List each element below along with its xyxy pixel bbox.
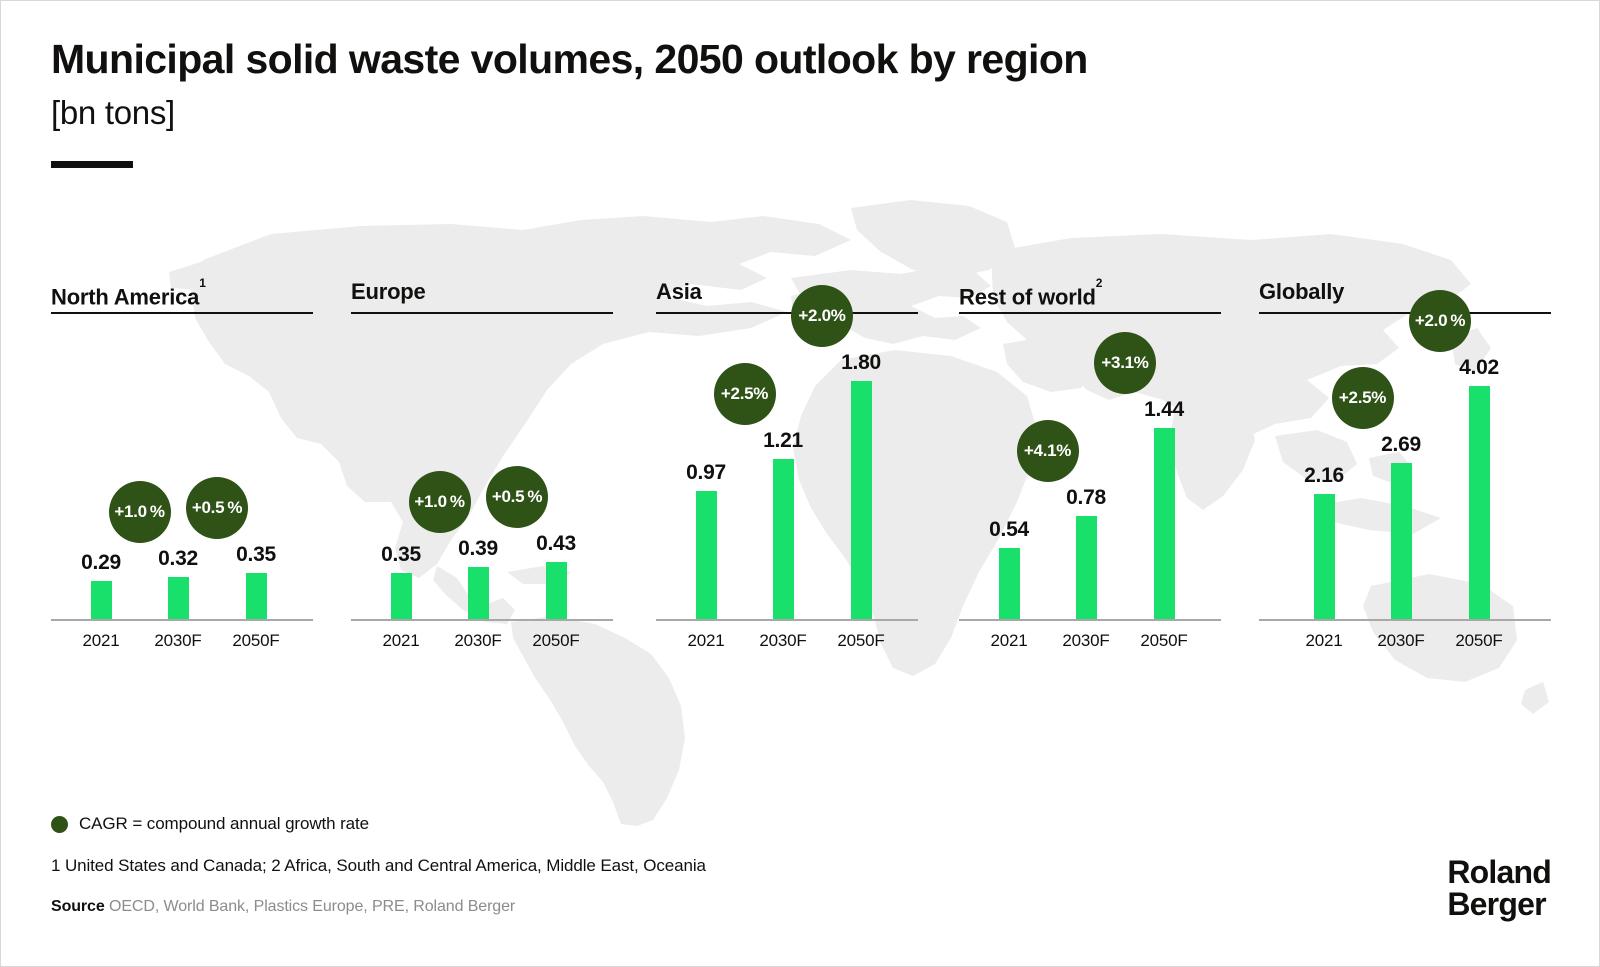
logo-line-2: Berger (1447, 889, 1551, 920)
panel-underline (51, 312, 313, 314)
bar-value-label: 0.29 (81, 551, 121, 575)
cagr-bubble: +2.0 % (1409, 290, 1471, 352)
bar[interactable] (696, 491, 717, 619)
footnotes: 1 United States and Canada; 2 Africa, So… (51, 856, 1151, 876)
bar[interactable] (1076, 516, 1097, 619)
x-axis-tick-label: 2030F (1377, 631, 1424, 651)
bar[interactable] (999, 548, 1020, 619)
bar-value-label: 0.39 (458, 537, 498, 561)
source-text: OECD, World Bank, Plastics Europe, PRE, … (105, 898, 515, 915)
panel-plot: 0.9720211.212030F1.802050F+2.5%+2.0% (656, 363, 918, 659)
bar-value-label: 2.16 (1304, 464, 1344, 488)
bar[interactable] (851, 381, 872, 619)
bar[interactable] (391, 573, 412, 619)
cagr-bubble: +1.0 % (409, 471, 471, 533)
legend-cagr: CAGR = compound annual growth rate (51, 814, 1151, 834)
cagr-bubble: +2.5% (1332, 367, 1394, 429)
panel-rest-of-world: Rest of world20.5420210.782030F1.442050F… (959, 279, 1221, 659)
x-axis-tick-label: 2021 (990, 631, 1027, 651)
bar-value-label: 0.78 (1066, 486, 1106, 510)
x-axis-baseline (51, 619, 313, 621)
panel-title-footnote-marker: 1 (199, 276, 205, 290)
bar-value-label: 0.43 (536, 532, 576, 556)
panel-underline (656, 312, 918, 314)
x-axis-baseline (351, 619, 613, 621)
bar-group: 0.432050F (546, 562, 567, 619)
bar-group: 2.162021 (1314, 494, 1335, 619)
panel-title: Asia (656, 279, 918, 305)
bar-value-label: 0.54 (989, 518, 1029, 542)
panel-plot: 0.5420210.782030F1.442050F+4.1%+3.1% (959, 363, 1221, 659)
panel-plot: 0.2920210.322030F0.352050F+1.0 %+0.5 % (51, 363, 313, 659)
panel-underline (1259, 312, 1551, 314)
footer: CAGR = compound annual growth rate 1 Uni… (51, 814, 1151, 916)
header: Municipal solid waste volumes, 2050 outl… (51, 39, 1088, 168)
bar[interactable] (468, 567, 489, 619)
x-axis-tick-label: 2021 (687, 631, 724, 651)
bar[interactable] (91, 581, 112, 619)
cagr-bubble: +1.0 % (109, 481, 171, 543)
bar-group: 0.542021 (999, 548, 1020, 619)
cagr-bubble: +2.5% (714, 363, 776, 425)
bar-value-label: 2.69 (1381, 433, 1421, 457)
bar-value-label: 4.02 (1459, 356, 1499, 380)
bar-group: 1.212030F (773, 459, 794, 619)
bar-value-label: 0.97 (686, 461, 726, 485)
logo-line-1: Roland (1447, 857, 1551, 888)
chart-panels: North America10.2920210.322030F0.352050F… (51, 279, 1551, 659)
bar-value-label: 1.80 (841, 351, 881, 375)
bar-group: 0.392030F (468, 567, 489, 619)
panel-title: North America1 (51, 279, 313, 305)
panel-title: Rest of world2 (959, 279, 1221, 305)
x-axis-tick-label: 2021 (1305, 631, 1342, 651)
x-axis-tick-label: 2050F (1140, 631, 1187, 651)
bar-value-label: 1.21 (763, 429, 803, 453)
source-line: Source OECD, World Bank, Plastics Europe… (51, 898, 1151, 916)
bar-value-label: 0.32 (158, 547, 198, 571)
panel-underline (959, 312, 1221, 314)
bar[interactable] (1469, 386, 1490, 619)
bar-group: 0.352021 (391, 573, 412, 619)
panel-title: Globally (1259, 279, 1551, 305)
x-axis-tick-label: 2030F (154, 631, 201, 651)
bar[interactable] (168, 577, 189, 619)
x-axis-tick-label: 2030F (454, 631, 501, 651)
panel-europe: Europe0.3520210.392030F0.432050F+1.0 %+0… (351, 279, 613, 659)
x-axis-tick-label: 2030F (1062, 631, 1109, 651)
page-title: Municipal solid waste volumes, 2050 outl… (51, 39, 1088, 80)
x-axis-baseline (656, 619, 918, 621)
bar-value-label: 1.44 (1144, 398, 1184, 422)
x-axis-tick-label: 2021 (82, 631, 119, 651)
bar-group: 2.692030F (1391, 463, 1412, 619)
panel-title-footnote-marker: 2 (1096, 276, 1102, 290)
legend-cagr-label: CAGR = compound annual growth rate (79, 814, 369, 834)
panel-north-america: North America10.2920210.322030F0.352050F… (51, 279, 313, 659)
bar-group: 0.972021 (696, 491, 717, 619)
title-accent-rule (51, 161, 133, 168)
x-axis-baseline (959, 619, 1221, 621)
bar-group: 1.442050F (1154, 428, 1175, 619)
bar[interactable] (1391, 463, 1412, 619)
bar-group: 0.782030F (1076, 516, 1097, 619)
panel-title: Europe (351, 279, 613, 305)
page-subtitle: [bn tons] (51, 92, 1088, 133)
panel-plot: 0.3520210.392030F0.432050F+1.0 %+0.5 % (351, 363, 613, 659)
x-axis-tick-label: 2050F (1455, 631, 1502, 651)
bar-value-label: 0.35 (236, 543, 276, 567)
panel-underline (351, 312, 613, 314)
circle-dot-icon (51, 816, 68, 833)
source-label: Source (51, 898, 105, 915)
x-axis-tick-label: 2030F (759, 631, 806, 651)
cagr-bubble: +2.0% (791, 285, 853, 347)
bar[interactable] (1314, 494, 1335, 619)
bar[interactable] (246, 573, 267, 619)
bar-value-label: 0.35 (381, 543, 421, 567)
panel-globally: Globally2.1620212.692030F4.022050F+2.5%+… (1259, 279, 1551, 659)
bar-group: 0.322030F (168, 577, 189, 619)
bar-group: 0.292021 (91, 581, 112, 619)
cagr-bubble: +0.5 % (186, 477, 248, 539)
bar[interactable] (773, 459, 794, 619)
bar-group: 1.802050F (851, 381, 872, 619)
panel-asia: Asia0.9720211.212030F1.802050F+2.5%+2.0% (656, 279, 918, 659)
panel-plot: 2.1620212.692030F4.022050F+2.5%+2.0 % (1259, 363, 1551, 659)
bar[interactable] (546, 562, 567, 619)
roland-berger-logo: Roland Berger (1447, 857, 1551, 920)
bar-group: 4.022050F (1469, 386, 1490, 619)
cagr-bubble: +3.1% (1094, 332, 1156, 394)
x-axis-tick-label: 2050F (837, 631, 884, 651)
bar-group: 0.352050F (246, 573, 267, 619)
bar[interactable] (1154, 428, 1175, 619)
cagr-bubble: +0.5 % (486, 466, 548, 528)
infographic-slide: Municipal solid waste volumes, 2050 outl… (0, 0, 1600, 967)
x-axis-baseline (1259, 619, 1551, 621)
x-axis-tick-label: 2050F (232, 631, 279, 651)
cagr-bubble: +4.1% (1017, 420, 1079, 482)
x-axis-tick-label: 2021 (382, 631, 419, 651)
x-axis-tick-label: 2050F (532, 631, 579, 651)
